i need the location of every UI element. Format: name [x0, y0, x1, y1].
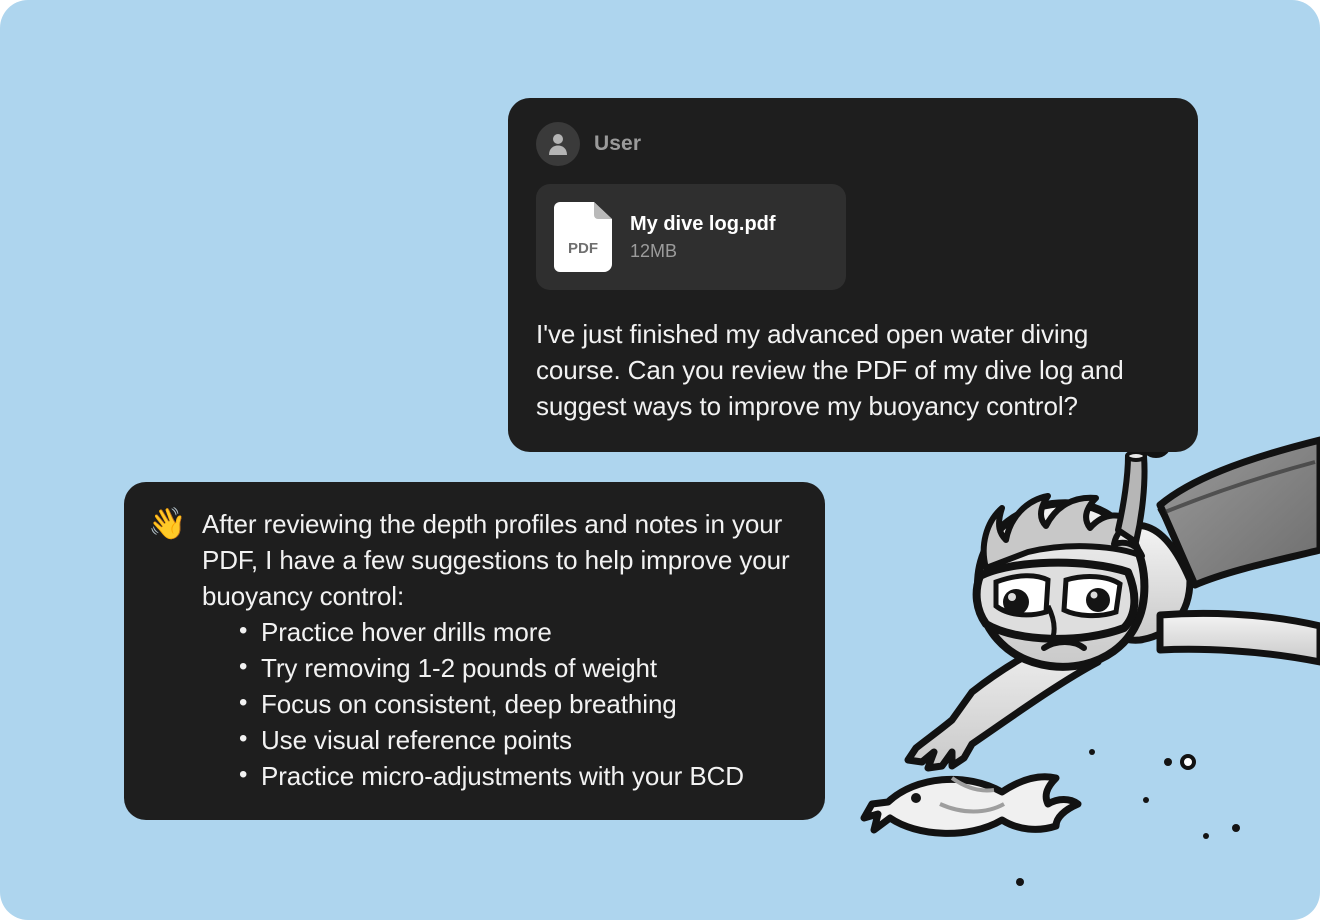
suggestion-list: Practice hover drills more Try removing … — [202, 614, 799, 794]
list-item: Try removing 1-2 pounds of weight — [239, 650, 799, 686]
assistant-intro-text: After reviewing the depth profiles and n… — [202, 506, 799, 614]
assistant-message-bubble: 👋 After reviewing the depth profiles and… — [124, 482, 825, 820]
user-header: User — [536, 122, 1170, 166]
waving-hand-icon: 👋 — [148, 506, 190, 542]
file-size-label: 12MB — [630, 241, 776, 262]
snorkeler-illustration — [860, 400, 1320, 920]
user-name-label: User — [594, 132, 641, 156]
avatar — [536, 122, 580, 166]
file-name-label: My dive log.pdf — [630, 213, 776, 236]
pdf-icon-label: PDF — [568, 240, 598, 257]
list-item: Practice micro-adjustments with your BCD — [239, 758, 799, 794]
pdf-file-icon: PDF — [554, 202, 612, 272]
fish-illustration — [864, 777, 1078, 834]
list-item: Focus on consistent, deep breathing — [239, 686, 799, 722]
person-icon — [547, 132, 569, 156]
list-item: Practice hover drills more — [239, 614, 799, 650]
air-bubbles — [1016, 403, 1240, 887]
diver-figure — [908, 440, 1320, 768]
chat-canvas: User PDF My dive log.pdf 12MB I've just … — [0, 0, 1320, 920]
file-attachment-card[interactable]: PDF My dive log.pdf 12MB — [536, 184, 846, 290]
user-message-bubble: User PDF My dive log.pdf 12MB I've just … — [508, 98, 1198, 452]
user-message-text: I've just finished my advanced open wate… — [536, 316, 1170, 424]
list-item: Use visual reference points — [239, 722, 799, 758]
